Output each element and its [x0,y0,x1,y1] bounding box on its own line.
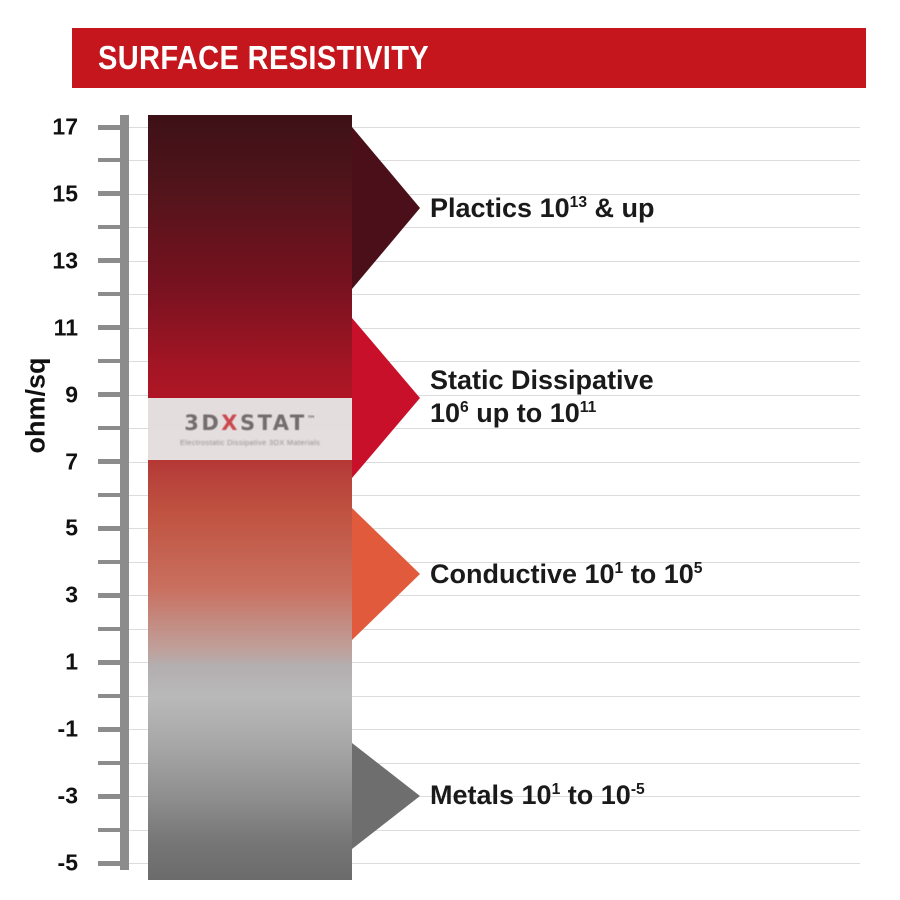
axis-tick-major [98,727,120,732]
axis-tick-major [98,794,120,799]
axis-tick-minor [98,359,120,363]
axis-tick-label: -3 [18,783,78,810]
axis-tick-label: 13 [18,247,78,274]
axis-tick-minor [98,627,120,631]
axis-tick-major [98,660,120,665]
chart-plot-area: 1715131197531-1-3-5 ohm/sq 3DXSTAT™ Elec… [0,0,900,900]
axis-tick-minor [98,560,120,564]
axis-tick-label: 3 [18,582,78,609]
axis-tick-major [98,526,120,531]
axis-tick-minor [98,225,120,229]
axis-tick-label: -1 [18,716,78,743]
axis-tick-major [98,459,120,464]
axis-tick-label: 5 [18,515,78,542]
axis-tick-major [98,125,120,130]
axis-tick-minor [98,158,120,162]
axis-tick-major [98,861,120,866]
logo-wordmark-x: X [221,411,240,435]
callout-arrow-conductive [352,508,420,640]
callout-arrow-metals [352,743,420,849]
resistivity-gradient-bar [148,115,352,880]
brand-logo-watermark: 3DXSTAT™ Electrostatic Dissipative 3DX M… [148,398,352,460]
callout-label-plactics: Plactics 1013 & up [430,192,655,225]
callout-arrow-plactics [352,127,420,289]
axis-tick-label: 1 [18,649,78,676]
axis-tick-major [98,258,120,263]
callout-label-metals: Metals 101 to 10-5 [430,779,645,812]
axis-tick-major [98,392,120,397]
axis-tick-major [98,593,120,598]
callout-arrow-static-dissipative [352,318,420,478]
logo-wordmark: 3DXSTAT™ [184,411,316,435]
trademark-symbol: ™ [307,415,316,425]
logo-wordmark-suffix: STAT [240,411,307,435]
logo-wordmark-prefix: 3D [184,411,221,435]
logo-tagline: Electrostatic Dissipative 3DX Materials [180,438,320,447]
infographic-root: SURFACE RESISTIVITY 1715131197531-1-3-5 … [0,0,900,900]
axis-tick-minor [98,828,120,832]
axis-tick-minor [98,493,120,497]
axis-tick-label: 15 [18,180,78,207]
axis-tick-major [98,191,120,196]
axis-tick-label: 17 [18,114,78,141]
axis-tick-minor [98,761,120,765]
axis-tick-minor [98,426,120,430]
axis-tick-major [98,325,120,330]
axis-tick-label: -5 [18,850,78,877]
callout-label-conductive: Conductive 101 to 105 [430,558,703,591]
axis-ruler [120,115,129,870]
axis-tick-minor [98,292,120,296]
axis-tick-minor [98,694,120,698]
y-axis-title: ohm/sq [21,326,52,486]
callout-label-static-dissipative: Static Dissipative106 up to 1011 [430,364,654,430]
